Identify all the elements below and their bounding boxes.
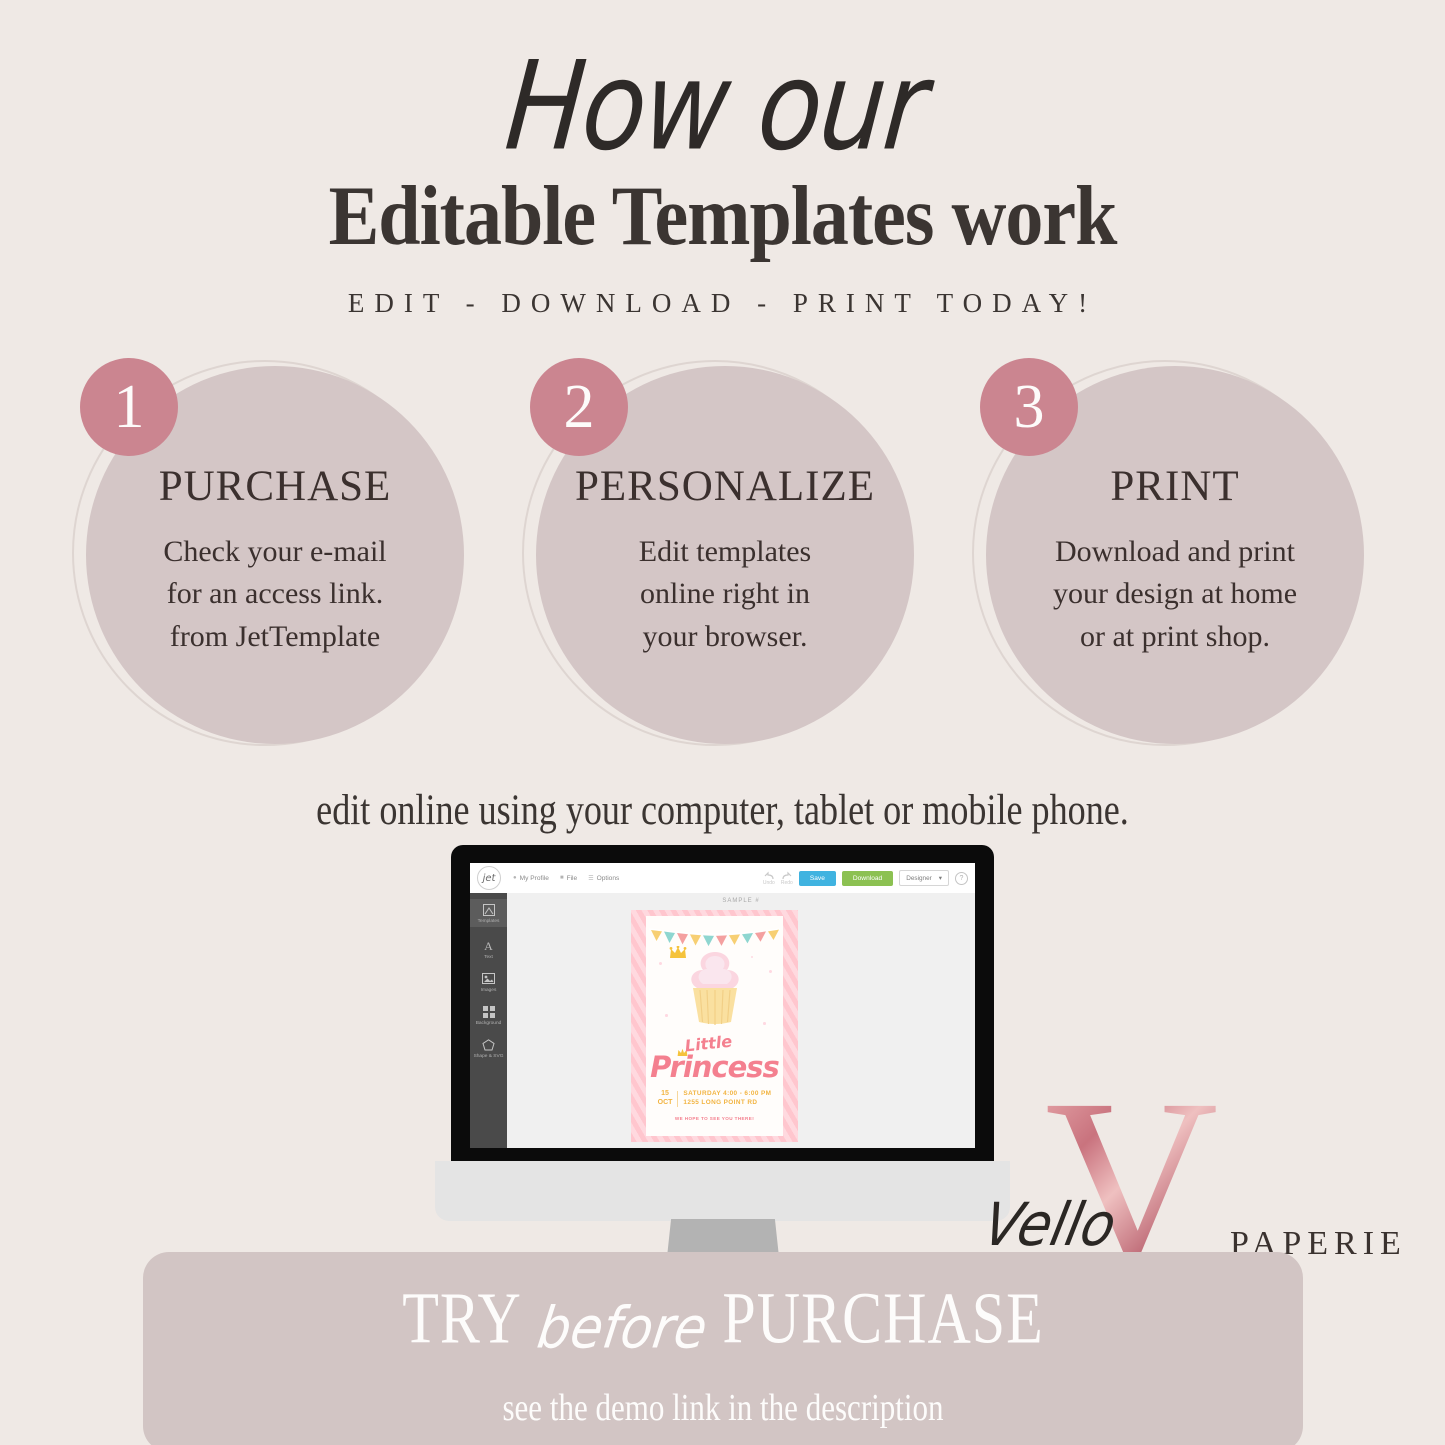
step-desc-line: or at print shop. xyxy=(1053,616,1297,659)
step-number-badge: 3 xyxy=(980,358,1078,456)
redo-icon xyxy=(781,871,793,880)
banner-purchase: PURCHASE xyxy=(722,1277,1043,1361)
cupcake-illustration xyxy=(675,950,755,1026)
background-icon xyxy=(481,1004,496,1019)
bottom-banner: TRY before PURCHASE see the demo link in… xyxy=(143,1252,1303,1445)
banner-try: TRY xyxy=(402,1277,522,1361)
images-icon xyxy=(481,971,496,986)
steps-row: 1 PURCHASE Check your e-mail for an acce… xyxy=(0,352,1445,762)
bunting-svg xyxy=(649,926,780,948)
jet-logo-icon[interactable]: jet xyxy=(477,866,501,890)
monitor-mockup: jet ● My Profile ■ File ☰ Options xyxy=(435,845,1010,1265)
step-title: PERSONALIZE xyxy=(575,462,875,511)
undo-label: Undo xyxy=(763,880,775,886)
sparkle-dot xyxy=(769,970,772,973)
download-button[interactable]: Download xyxy=(842,871,893,886)
sidebar-label: Templates xyxy=(478,919,500,924)
editor-canvas[interactable]: SAMPLE # xyxy=(507,893,975,1148)
step-desc-line: Check your e-mail xyxy=(163,531,386,574)
step-desc-line: Edit templates xyxy=(639,531,811,574)
card-date: 15 OCT xyxy=(658,1090,673,1108)
shape-svg-icon xyxy=(481,1037,496,1052)
svg-text:A: A xyxy=(484,939,493,952)
device-tagline: edit online using your computer, tablet … xyxy=(36,785,1409,835)
card-date-day: 15 xyxy=(658,1090,673,1099)
role-select-value: Designer xyxy=(906,875,932,882)
sidebar-item-background[interactable]: Background xyxy=(470,1004,507,1026)
editor-sidebar: Templates A Text Images xyxy=(470,893,507,1148)
save-button[interactable]: Save xyxy=(799,871,836,886)
step-desc-line: for an access link. xyxy=(163,573,386,616)
invitation-card[interactable]: Little Princess 15 OCT SATURDAY 4:00 - 6… xyxy=(631,910,798,1142)
undo-icon xyxy=(763,871,775,880)
help-icon[interactable]: ? xyxy=(955,872,968,885)
banner-before: before xyxy=(533,1296,711,1362)
step-card-print: 3 PRINT Download and print your design a… xyxy=(964,352,1364,752)
sidebar-label: Shape & SVG xyxy=(474,1054,504,1059)
headline-subtitle: EDIT - DOWNLOAD - PRINT TODAY! xyxy=(0,288,1445,319)
role-select[interactable]: Designer ▾ xyxy=(899,870,949,886)
sidebar-label: Text xyxy=(484,955,493,960)
step-desc-line: online right in xyxy=(639,573,811,616)
menu-item-my-profile[interactable]: ● My Profile xyxy=(513,875,549,882)
editor-toolbar: jet ● My Profile ■ File ☰ Options xyxy=(470,863,975,894)
sparkle-dot xyxy=(659,962,662,965)
menu-item-options[interactable]: ☰ Options xyxy=(588,875,619,882)
headline-script: How our xyxy=(0,34,1445,178)
redo-label: Redo xyxy=(781,880,793,886)
banner-subtitle: see the demo link in the description xyxy=(178,1388,1268,1431)
step-description: Download and print your design at home o… xyxy=(1053,531,1297,659)
brand-script-name: Vello xyxy=(978,1190,1263,1259)
card-footer-text: WE HOPE TO SEE YOU THERE! xyxy=(631,1116,798,1121)
step-card-personalize: 2 PERSONALIZE Edit templates online righ… xyxy=(514,352,914,752)
user-icon: ● xyxy=(513,875,517,881)
sparkle-dot xyxy=(751,956,753,958)
templates-icon xyxy=(481,902,496,917)
sidebar-item-images[interactable]: Images xyxy=(470,971,507,993)
card-detail-line-1: SATURDAY 4:00 - 6:00 PM xyxy=(683,1090,771,1099)
options-icon: ☰ xyxy=(588,875,593,882)
sidebar-item-text[interactable]: A Text xyxy=(470,938,507,960)
sidebar-item-shape-svg[interactable]: Shape & SVG xyxy=(470,1037,507,1059)
card-date-month: OCT xyxy=(658,1099,673,1108)
menu-label: File xyxy=(567,875,578,882)
headline-main: Editable Templates work xyxy=(0,168,1445,265)
card-title-main: Princess xyxy=(631,1050,798,1084)
chevron-down-icon: ▾ xyxy=(939,874,942,882)
sidebar-item-templates[interactable]: Templates xyxy=(470,899,507,927)
menu-label: My Profile xyxy=(520,875,549,882)
poster-canvas: How our Editable Templates work EDIT - D… xyxy=(0,0,1445,1445)
monitor-chin xyxy=(435,1161,1010,1221)
step-title: PRINT xyxy=(1110,462,1239,511)
step-title: PURCHASE xyxy=(159,462,392,511)
card-info-divider xyxy=(677,1091,678,1107)
text-icon: A xyxy=(481,938,496,953)
step-desc-line: Download and print xyxy=(1053,531,1297,574)
step-desc-line: from JetTemplate xyxy=(163,616,386,659)
menu-label: Options xyxy=(597,875,620,882)
step-card-purchase: 1 PURCHASE Check your e-mail for an acce… xyxy=(64,352,464,752)
editor-screen: jet ● My Profile ■ File ☰ Options xyxy=(470,863,975,1148)
step-description: Check your e-mail for an access link. fr… xyxy=(163,531,386,659)
step-number-badge: 2 xyxy=(530,358,628,456)
editor-toolbar-right: Undo Redo Save Download Designer ▾ ? xyxy=(763,870,975,886)
card-detail-line-2: 1255 LONG POINT RD xyxy=(683,1099,771,1108)
step-description: Edit templates online right in your brow… xyxy=(639,531,811,659)
sidebar-label: Images xyxy=(481,988,497,993)
sparkle-dot xyxy=(665,1014,668,1017)
step-number-badge: 1 xyxy=(80,358,178,456)
menu-item-file[interactable]: ■ File xyxy=(560,875,577,882)
step-desc-line: your browser. xyxy=(639,616,811,659)
banner-headline: TRY before PURCHASE xyxy=(143,1292,1303,1361)
redo-button[interactable]: Redo xyxy=(781,871,793,886)
bunting-decoration xyxy=(649,926,780,948)
card-detail-lines: SATURDAY 4:00 - 6:00 PM 1255 LONG POINT … xyxy=(683,1090,771,1107)
sidebar-label: Background xyxy=(476,1021,502,1026)
step-desc-line: your design at home xyxy=(1053,573,1297,616)
undo-button[interactable]: Undo xyxy=(763,871,775,886)
editor-menu: ● My Profile ■ File ☰ Options xyxy=(513,875,619,882)
file-icon: ■ xyxy=(560,875,564,881)
sparkle-dot xyxy=(763,1022,766,1025)
card-event-info: 15 OCT SATURDAY 4:00 - 6:00 PM 1255 LONG… xyxy=(649,1090,780,1108)
canvas-sample-label: SAMPLE # xyxy=(507,898,975,904)
